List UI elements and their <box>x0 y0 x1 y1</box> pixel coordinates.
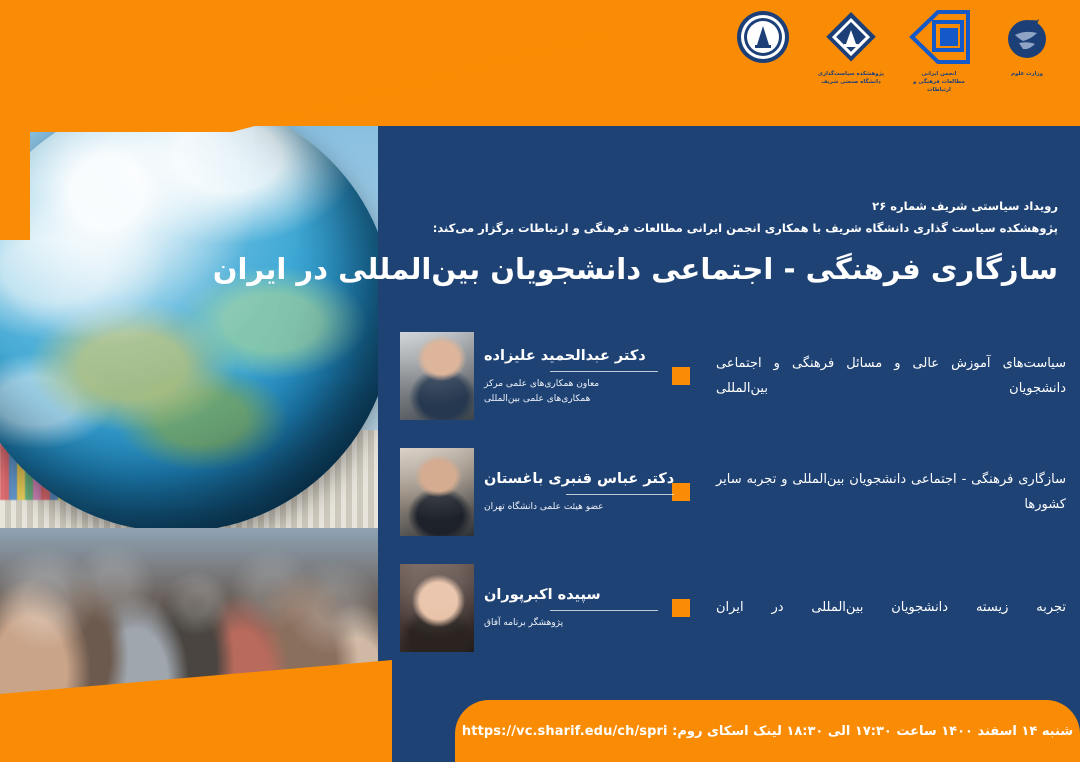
poster-header: رویداد سیاستی شریف شماره ۲۶ پژوهشکده سیا… <box>418 196 1058 291</box>
page-title: سازگاری فرهنگی - اجتماعی دانشجویان بین‌ا… <box>418 248 1058 292</box>
speaker-text: دکتر عبدالحمید علیزاده معاون همکاری‌های … <box>484 346 658 407</box>
sharif-university-logo <box>726 6 800 70</box>
speaker-row: سپیده اکبرپوران پژوهشگر برنامه آفاق تجرب… <box>400 550 1066 666</box>
organizer-label: پژوهشکده سیاست گذاری دانشگاه شریف با همک… <box>418 218 1058 240</box>
spri-logo: پژوهشکده سیاست‌گذاریدانشگاه صنعتی شریف <box>814 6 888 86</box>
talk-topic: تجربه زیسته دانشجویان بین‌المللی در ایرا… <box>704 595 1066 620</box>
talk-topic: سازگاری فرهنگی - اجتماعی دانشجویان بین‌ا… <box>704 467 1066 518</box>
schedule-label: شنبه ۱۴ اسفند ۱۴۰۰ ساعت ۱۷:۳۰ الی ۱۸:۳۰ … <box>672 724 1073 739</box>
speaker-photo-1 <box>400 332 474 420</box>
association-logo-mark <box>908 6 970 68</box>
speaker-name: سپیده اکبرپوران <box>484 585 658 605</box>
speaker-list: دکتر عبدالحمید علیزاده معاون همکاری‌های … <box>400 318 1066 666</box>
speaker-role: عضو هیئت علمی دانشگاه تهران <box>484 500 674 515</box>
skyroom-link[interactable]: https://vc.sharif.edu/ch/spri <box>462 724 668 739</box>
association-logo-caption: انجمن ایرانیمطالعات فرهنگی و ارتباطات <box>902 70 976 94</box>
speaker-block: دکتر عبدالحمید علیزاده معاون همکاری‌های … <box>400 332 658 420</box>
bullet-square-icon <box>672 367 690 385</box>
orange-left-edge <box>0 60 30 240</box>
bullet-square-icon <box>672 599 690 617</box>
speaker-role: پژوهشگر برنامه آفاق <box>484 616 658 631</box>
speaker-block: سپیده اکبرپوران پژوهشگر برنامه آفاق <box>400 564 658 652</box>
speaker-row: دکتر عبدالحمید علیزاده معاون همکاری‌های … <box>400 318 1066 434</box>
speaker-text: سپیده اکبرپوران پژوهشگر برنامه آفاق <box>484 585 658 631</box>
event-series-label: رویداد سیاستی شریف شماره ۲۶ <box>418 196 1058 218</box>
footer-text: شنبه ۱۴ اسفند ۱۴۰۰ ساعت ۱۷:۳۰ الی ۱۸:۳۰ … <box>462 724 1073 739</box>
earth-globe-image <box>0 96 378 532</box>
speaker-photo-3 <box>400 564 474 652</box>
logo-strip: وزارت علوم انجمن ایرانیمطالعات فرهنگی و … <box>726 6 1064 94</box>
speaker-divider <box>566 494 674 495</box>
bullet-square-icon <box>672 483 690 501</box>
globe-logo-caption: وزارت علوم <box>1011 70 1043 78</box>
speaker-text: دکتر عباس قنبری باغستان عضو هیئت علمی دا… <box>484 469 674 515</box>
talk-topic: سیاست‌های آموزش عالی و مسائل فرهنگی و اج… <box>704 351 1066 402</box>
speaker-name: دکتر عباس قنبری باغستان <box>484 469 674 489</box>
speaker-name: دکتر عبدالحمید علیزاده <box>484 346 658 366</box>
spri-logo-mark <box>824 6 878 68</box>
event-poster: وزارت علوم انجمن ایرانیمطالعات فرهنگی و … <box>0 0 1080 762</box>
footer-bar: شنبه ۱۴ اسفند ۱۴۰۰ ساعت ۱۷:۳۰ الی ۱۸:۳۰ … <box>455 700 1080 762</box>
spri-logo-caption: پژوهشکده سیاست‌گذاریدانشگاه صنعتی شریف <box>818 70 884 86</box>
sharif-university-logo-mark <box>735 6 791 68</box>
speaker-role: معاون همکاری‌های علمی مرکزهمکاری‌های علم… <box>484 377 658 407</box>
speaker-block: دکتر عباس قنبری باغستان عضو هیئت علمی دا… <box>400 448 658 536</box>
globe-logo-mark <box>1001 6 1053 68</box>
speaker-divider <box>550 371 658 372</box>
speaker-row: دکتر عباس قنبری باغستان عضو هیئت علمی دا… <box>400 434 1066 550</box>
association-logo: انجمن ایرانیمطالعات فرهنگی و ارتباطات <box>902 6 976 94</box>
globe-logo: وزارت علوم <box>990 6 1064 78</box>
speaker-divider <box>550 610 658 611</box>
speaker-photo-2 <box>400 448 474 536</box>
